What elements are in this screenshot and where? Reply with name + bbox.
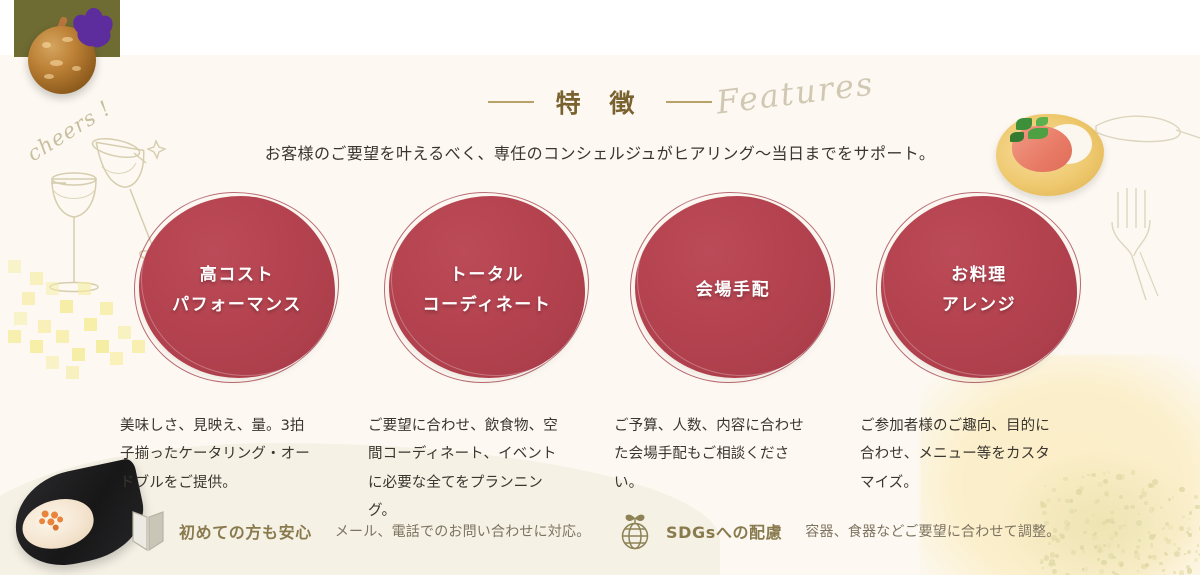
feature-circle[interactable]: 会場手配 <box>635 196 831 378</box>
feature-card[interactable]: お料理 アレンジ ご参加者様のご趣向、目的に合わせ、メニュー等をカスタマイズ。 <box>854 196 1104 497</box>
heading-dash-right <box>666 101 712 103</box>
feature-circle[interactable]: お料理 アレンジ <box>881 196 1077 378</box>
note-title: 初めての方も安心 <box>179 519 312 543</box>
feature-card[interactable]: 高コスト パフォーマンス 美味しさ、見映え、量。3拍子揃ったケータリング・オード… <box>112 196 362 497</box>
heading-dash-left <box>488 101 534 103</box>
note-item: SDGsへの配慮 容器、食器などご要望に合わせて調整。 <box>617 510 1060 552</box>
feature-title-line: パフォーマンス <box>172 290 302 315</box>
note-text: メール、電話でのお問い合わせに対応。 <box>335 521 591 541</box>
feature-circle[interactable]: トータル コーディネート <box>389 196 585 378</box>
feature-title: お料理 アレンジ <box>881 196 1077 378</box>
feature-card[interactable]: 会場手配 ご予算、人数、内容に合わせた会場手配もご相談ください。 <box>608 196 858 497</box>
feature-title: トータル コーディネート <box>389 196 585 378</box>
sdgs-globe-icon <box>617 510 653 552</box>
feature-card-list: 高コスト パフォーマンス 美味しさ、見映え、量。3拍子揃ったケータリング・オード… <box>0 196 1200 496</box>
violet-flower-icon <box>72 6 112 46</box>
feature-description: 美味しさ、見映え、量。3拍子揃ったケータリング・オードブルをご提供。 <box>120 412 316 497</box>
features-section: cheers ! <box>0 0 1200 575</box>
footer-notes: 初めての方も安心 メール、電話でのお問い合わせに対応。 SDGsへの配慮 容器、… <box>0 508 1200 564</box>
heading-title-ja: 特 徴 <box>556 84 645 120</box>
feature-title-line: コーディネート <box>422 290 551 315</box>
open-book-icon <box>130 510 166 552</box>
note-text: 容器、食器などご要望に合わせて調整。 <box>805 521 1060 541</box>
feature-title-line: お料理 <box>951 260 1007 285</box>
section-subtitle: お客様のご要望を叶えるべく、専任のコンシェルジュがヒアリング〜当日までをサポート… <box>0 140 1200 164</box>
feature-title-line: トータル <box>450 260 524 285</box>
feature-description: ご参加者様のご趣向、目的に合わせ、メニュー等をカスタマイズ。 <box>860 412 1056 497</box>
feature-title-line: 会場手配 <box>696 275 770 300</box>
note-item: 初めての方も安心 メール、電話でのお問い合わせに対応。 <box>130 510 590 552</box>
feature-title: 高コスト パフォーマンス <box>139 196 335 378</box>
feature-title-line: アレンジ <box>942 290 1016 315</box>
section-heading: 特 徴 <box>0 84 1200 120</box>
feature-title: 会場手配 <box>635 196 831 378</box>
feature-circle[interactable]: 高コスト パフォーマンス <box>139 196 335 378</box>
feature-title-line: 高コスト <box>200 260 274 285</box>
feature-card[interactable]: トータル コーディネート ご要望に合わせ、飲食物、空間コーディネート、イベントに… <box>362 196 612 525</box>
note-title: SDGsへの配慮 <box>666 519 782 543</box>
feature-description: ご予算、人数、内容に合わせた会場手配もご相談ください。 <box>614 412 810 497</box>
